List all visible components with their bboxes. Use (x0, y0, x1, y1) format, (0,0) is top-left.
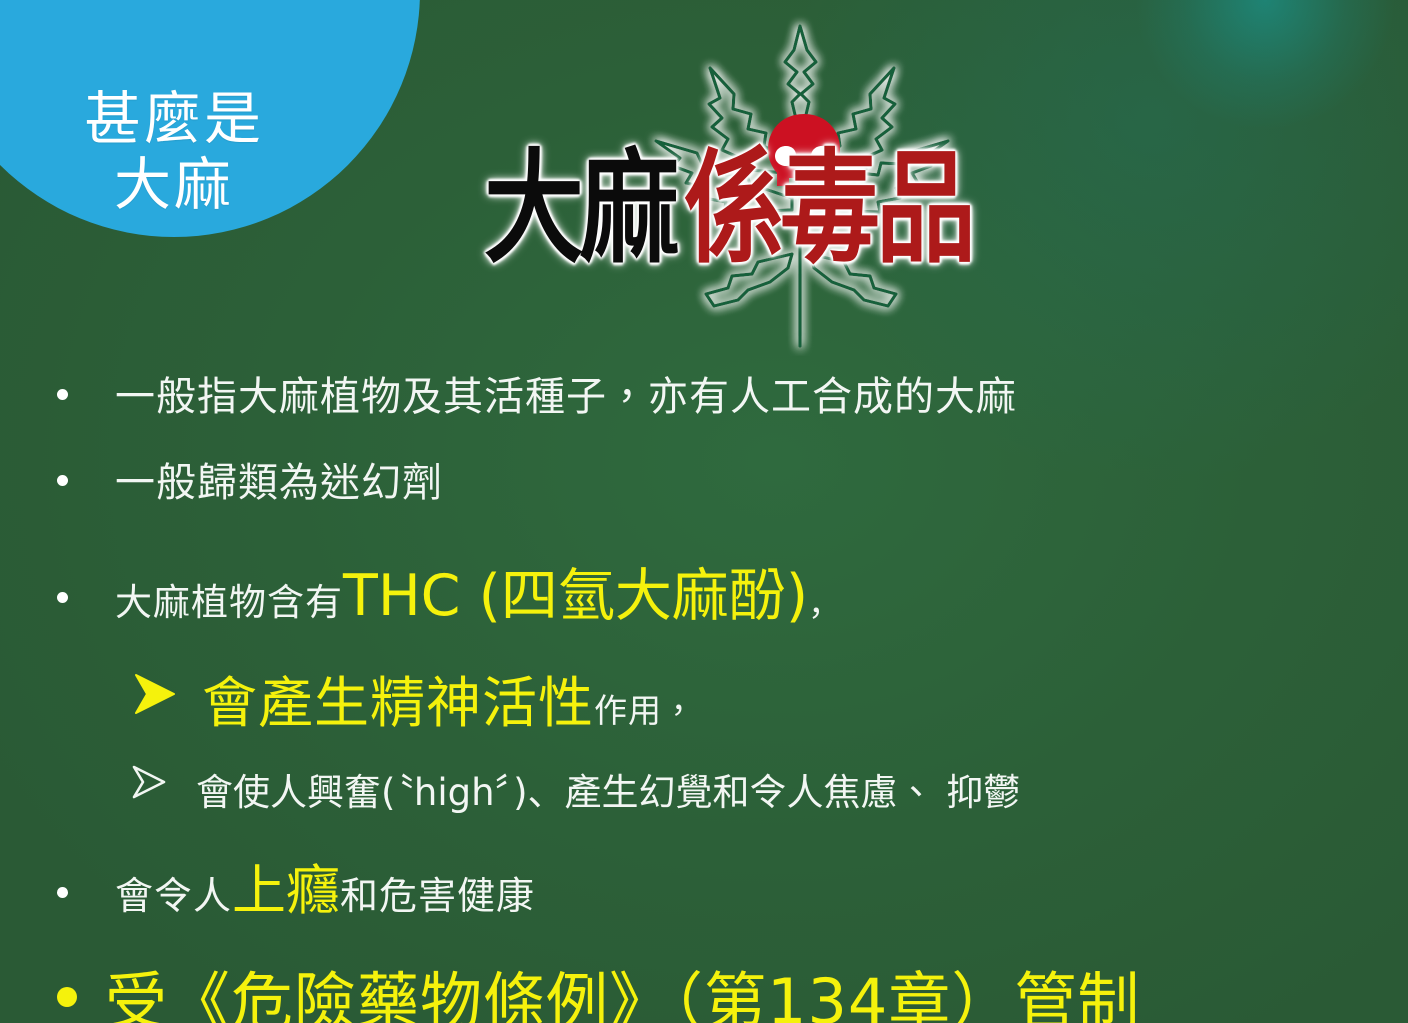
list-item: 受《危險藥物條例》（第134章）管制 (0, 951, 1408, 1023)
bullet-text: 受《危險藥物條例》（第134章）管制 (105, 951, 1140, 1023)
bullet-dot-icon (57, 389, 68, 400)
title-text: 甚麼是 大麻 (84, 86, 264, 219)
bullet-text: 一般歸類為迷幻劑 (115, 450, 443, 508)
title-line-1: 甚麼是 (84, 86, 264, 152)
logo-word-black: 大麻 (484, 147, 676, 270)
list-item: 一般歸類為迷幻劑 (0, 450, 1408, 508)
bullet-text-lead: 會令人 (115, 865, 232, 920)
bullet-text-emphasis: 上癮 (232, 846, 340, 925)
bullet-text: 會使人興奮(〝high〞)、產生幻覺和令人焦慮、 抑鬱 (196, 762, 1020, 816)
title-badge: 甚麼是 大麻 (0, 0, 420, 237)
cannabis-logo: 大麻係毒品 (470, 6, 1110, 356)
bullet-text-tail: 和危害健康 (340, 865, 535, 920)
bullet-dot-icon (57, 887, 68, 898)
bullet-dot-icon (57, 987, 77, 1007)
arrow-right-icon (132, 672, 178, 716)
list-item: 一般指大麻植物及其活種子，亦有人工合成的大麻 (0, 364, 1408, 422)
logo-word-red: 係毒品 (684, 147, 972, 270)
bullet-text-lead: 大麻植物含有 (115, 572, 343, 626)
bullet-text-tail: ， (808, 577, 842, 625)
arrow-right-icon (130, 764, 168, 800)
bullet-dot-icon (57, 475, 68, 486)
bullet-text-tail: 作用， (594, 684, 696, 732)
title-line-2: 大麻 (84, 152, 264, 219)
list-item: 會使人興奮(〝high〞)、產生幻覺和令人焦慮、 抑鬱 (0, 762, 1408, 816)
bullet-text: 一般指大麻植物及其活種子，亦有人工合成的大麻 (115, 364, 1017, 422)
list-item: 大麻植物含有 THC (四氫大麻酚) ， (0, 550, 1408, 632)
bullet-text-emphasis: THC (四氫大麻酚) (343, 550, 808, 632)
list-item: 會產生精神活性 作用， (0, 658, 1408, 738)
logo-wordmark: 大麻係毒品 (484, 166, 1104, 270)
bullet-list: 一般指大麻植物及其活種子，亦有人工合成的大麻 一般歸類為迷幻劑 大麻植物含有 T… (0, 356, 1408, 1023)
bullet-text-emphasis: 會產生精神活性 (202, 658, 594, 738)
slide-canvas: 甚麼是 大麻 (0, 0, 1408, 1023)
bullet-dot-icon (57, 592, 68, 603)
list-item: 會令人 上癮 和危害健康 (0, 846, 1408, 925)
